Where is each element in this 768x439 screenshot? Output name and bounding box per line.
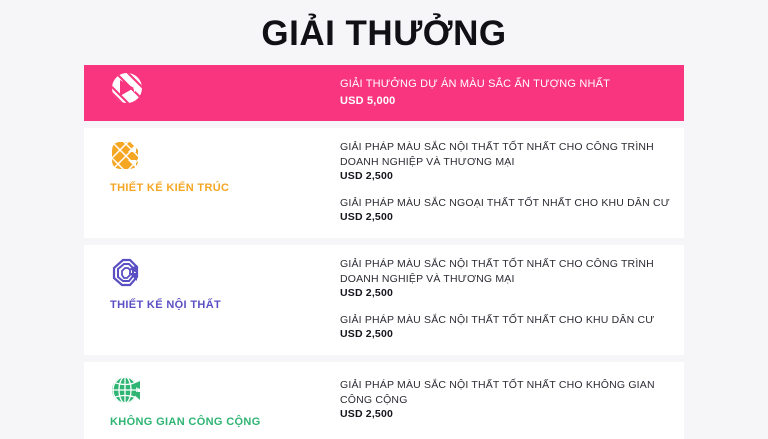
prize-amount: USD 5,000 — [340, 93, 670, 110]
award-row: GIẢI THƯỞNG DỰ ÁN MÀU SẮC ẤN TƯỢNG NHẤT … — [84, 65, 684, 121]
prize-block: GIẢI PHÁP MÀU SẮC NGOẠI THẤT TỐT NHẤT CH… — [340, 196, 670, 226]
architecture-hexagon-icon — [110, 140, 142, 172]
prize-amount: USD 2,500 — [340, 407, 670, 423]
awards-list: GIẢI THƯỞNG DỰ ÁN MÀU SẮC ẤN TƯỢNG NHẤT … — [84, 65, 684, 439]
interior-nested-hexagon-icon — [110, 257, 142, 289]
prize-amount: USD 2,500 — [340, 169, 670, 185]
prize-amount: USD 2,500 — [340, 327, 670, 343]
award-row: THIẾT KẾ NỘI THẤT GIẢI PHÁP MÀU SẮC NỘI … — [84, 245, 684, 355]
striped-circle-logo-icon — [110, 71, 144, 105]
prize-block: GIẢI PHÁP MÀU SẮC NỘI THẤT TỐT NHẤT CHO … — [340, 257, 670, 302]
award-icon-column: THIẾT KẾ NỘI THẤT — [84, 245, 340, 355]
award-category-label: KHÔNG GIAN CÔNG CỘNG — [110, 416, 261, 429]
award-category-label: THIẾT KẾ KIẾN TRÚC — [110, 182, 229, 195]
prize-title: GIẢI PHÁP MÀU SẮC NỘI THẤT TỐT NHẤT CHO … — [340, 257, 670, 286]
prize-title: GIẢI PHÁP MÀU SẮC NỘI THẤT TỐT NHẤT CHO … — [340, 378, 670, 407]
prize-block: GIẢI PHÁP MÀU SẮC NỘI THẤT TỐT NHẤT CHO … — [340, 378, 670, 423]
award-row: KHÔNG GIAN CÔNG CỘNG GIẢI PHÁP MÀU SẮC N… — [84, 362, 684, 439]
award-row: THIẾT KẾ KIẾN TRÚC GIẢI PHÁP MÀU SẮC NỘI… — [84, 128, 684, 238]
award-icon-column — [84, 65, 340, 121]
award-text-column: GIẢI PHÁP MÀU SẮC NỘI THẤT TỐT NHẤT CHO … — [340, 245, 684, 355]
award-icon-column: THIẾT KẾ KIẾN TRÚC — [84, 128, 340, 238]
prize-title: GIẢI THƯỞNG DỰ ÁN MÀU SẮC ẤN TƯỢNG NHẤT — [340, 77, 670, 92]
prize-block: GIẢI PHÁP MÀU SẮC NỘI THẤT TỐT NHẤT CHO … — [340, 313, 670, 343]
prize-amount: USD 2,500 — [340, 210, 670, 226]
award-category-label: THIẾT KẾ NỘI THẤT — [110, 299, 221, 312]
prize-title: GIẢI PHÁP MÀU SẮC NGOẠI THẤT TỐT NHẤT CH… — [340, 196, 670, 210]
awards-page: GIẢI THƯỞNG — [0, 0, 768, 432]
award-text-column: GIẢI PHÁP MÀU SẮC NỘI THẤT TỐT NHẤT CHO … — [340, 128, 684, 238]
award-icon-column: KHÔNG GIAN CÔNG CỘNG — [84, 362, 340, 439]
prize-title: GIẢI PHÁP MÀU SẮC NỘI THẤT TỐT NHẤT CHO … — [340, 140, 670, 169]
page-title: GIẢI THƯỞNG — [0, 0, 768, 54]
prize-title: GIẢI PHÁP MÀU SẮC NỘI THẤT TỐT NHẤT CHO … — [340, 313, 670, 327]
prize-block: GIẢI PHÁP MÀU SẮC NỘI THẤT TỐT NHẤT CHO … — [340, 140, 670, 185]
award-text-column: GIẢI PHÁP MÀU SẮC NỘI THẤT TỐT NHẤT CHO … — [340, 362, 684, 439]
prize-block: GIẢI THƯỞNG DỰ ÁN MÀU SẮC ẤN TƯỢNG NHẤT … — [340, 77, 670, 109]
public-space-globe-icon — [110, 374, 142, 406]
prize-amount: USD 2,500 — [340, 286, 670, 302]
award-text-column: GIẢI THƯỞNG DỰ ÁN MÀU SẮC ẤN TƯỢNG NHẤT … — [340, 65, 684, 121]
